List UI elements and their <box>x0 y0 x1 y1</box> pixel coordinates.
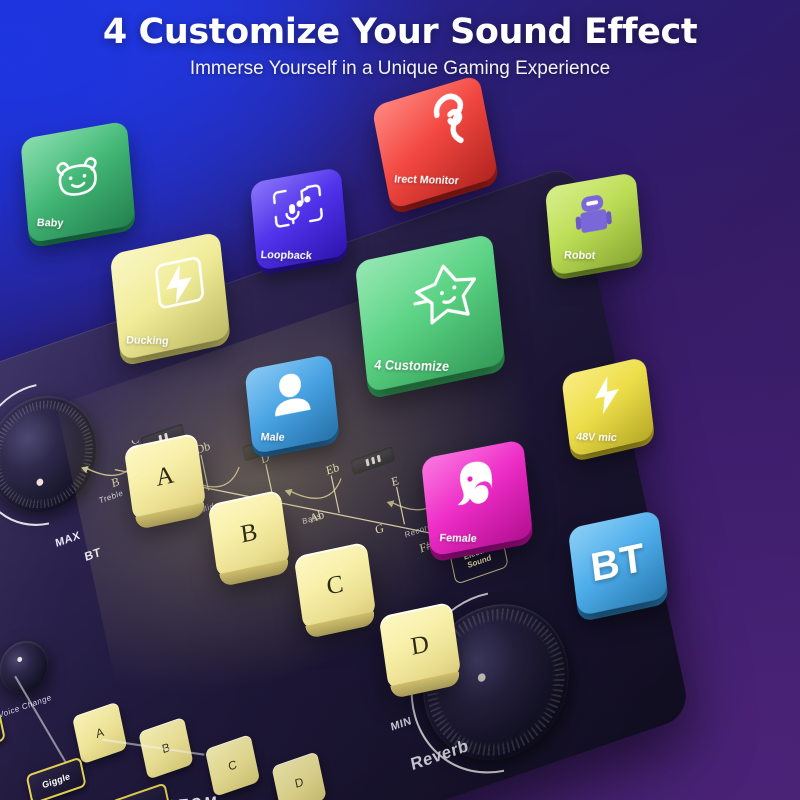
floating-key-d[interactable]: D <box>379 602 462 691</box>
tile-bluetooth[interactable]: BT <box>568 510 669 617</box>
voice-change-knob[interactable] <box>0 634 53 700</box>
tile-label: 48V mic <box>575 431 617 444</box>
floating-key-a[interactable]: A <box>124 433 207 522</box>
tile-label: Baby <box>36 217 64 230</box>
tile-label: Robot <box>563 250 595 263</box>
tile-irect-monitor[interactable]: Irect Monitor <box>371 74 498 209</box>
tile-label: Irect Monitor <box>393 173 459 187</box>
page-subtitle: Immerse Yourself in a Unique Gaming Expe… <box>0 58 800 80</box>
tile-label: Female <box>439 532 477 545</box>
tile-label: Male <box>260 431 285 444</box>
knob-indicator <box>17 656 23 663</box>
male-bust-icon <box>244 354 339 455</box>
tile-robot[interactable]: Robot <box>545 172 643 276</box>
custom-key-c[interactable]: C <box>205 734 260 797</box>
page-title: 4 Customize Your Sound Effect <box>0 0 800 52</box>
tile-male[interactable]: Male <box>244 354 339 455</box>
pad-electric[interactable]: Electric <box>0 712 6 757</box>
header-block: 4 Customize Your Sound Effect Immerse Yo… <box>0 0 800 80</box>
tile-loopback[interactable]: Loopback <box>250 167 348 271</box>
tile-label: Loopback <box>260 250 312 263</box>
custom-key-a[interactable]: A <box>72 701 127 764</box>
floating-key-c[interactable]: C <box>294 542 377 631</box>
pad-dindin[interactable]: Dindin <box>110 782 171 800</box>
tile-phantom-48v[interactable]: 48V mic <box>561 356 655 457</box>
tile-label: 4 Customize <box>374 356 451 373</box>
tile-baby[interactable]: Baby <box>20 121 135 244</box>
female-bust-icon <box>421 439 533 557</box>
reverb-knob-min: MIN <box>390 715 413 734</box>
custom-key-d[interactable]: D <box>271 751 326 800</box>
ear-icon <box>371 74 498 209</box>
tile-female[interactable]: Female <box>421 439 533 557</box>
floating-key-b[interactable]: B <box>208 490 291 579</box>
promo-banner: 4 Customize Your Sound Effect Immerse Yo… <box>0 0 800 800</box>
tile-label: Ducking <box>125 334 169 347</box>
pad-giggle[interactable]: Giggle <box>26 756 87 800</box>
mic-knob-max: MAX <box>54 530 81 550</box>
